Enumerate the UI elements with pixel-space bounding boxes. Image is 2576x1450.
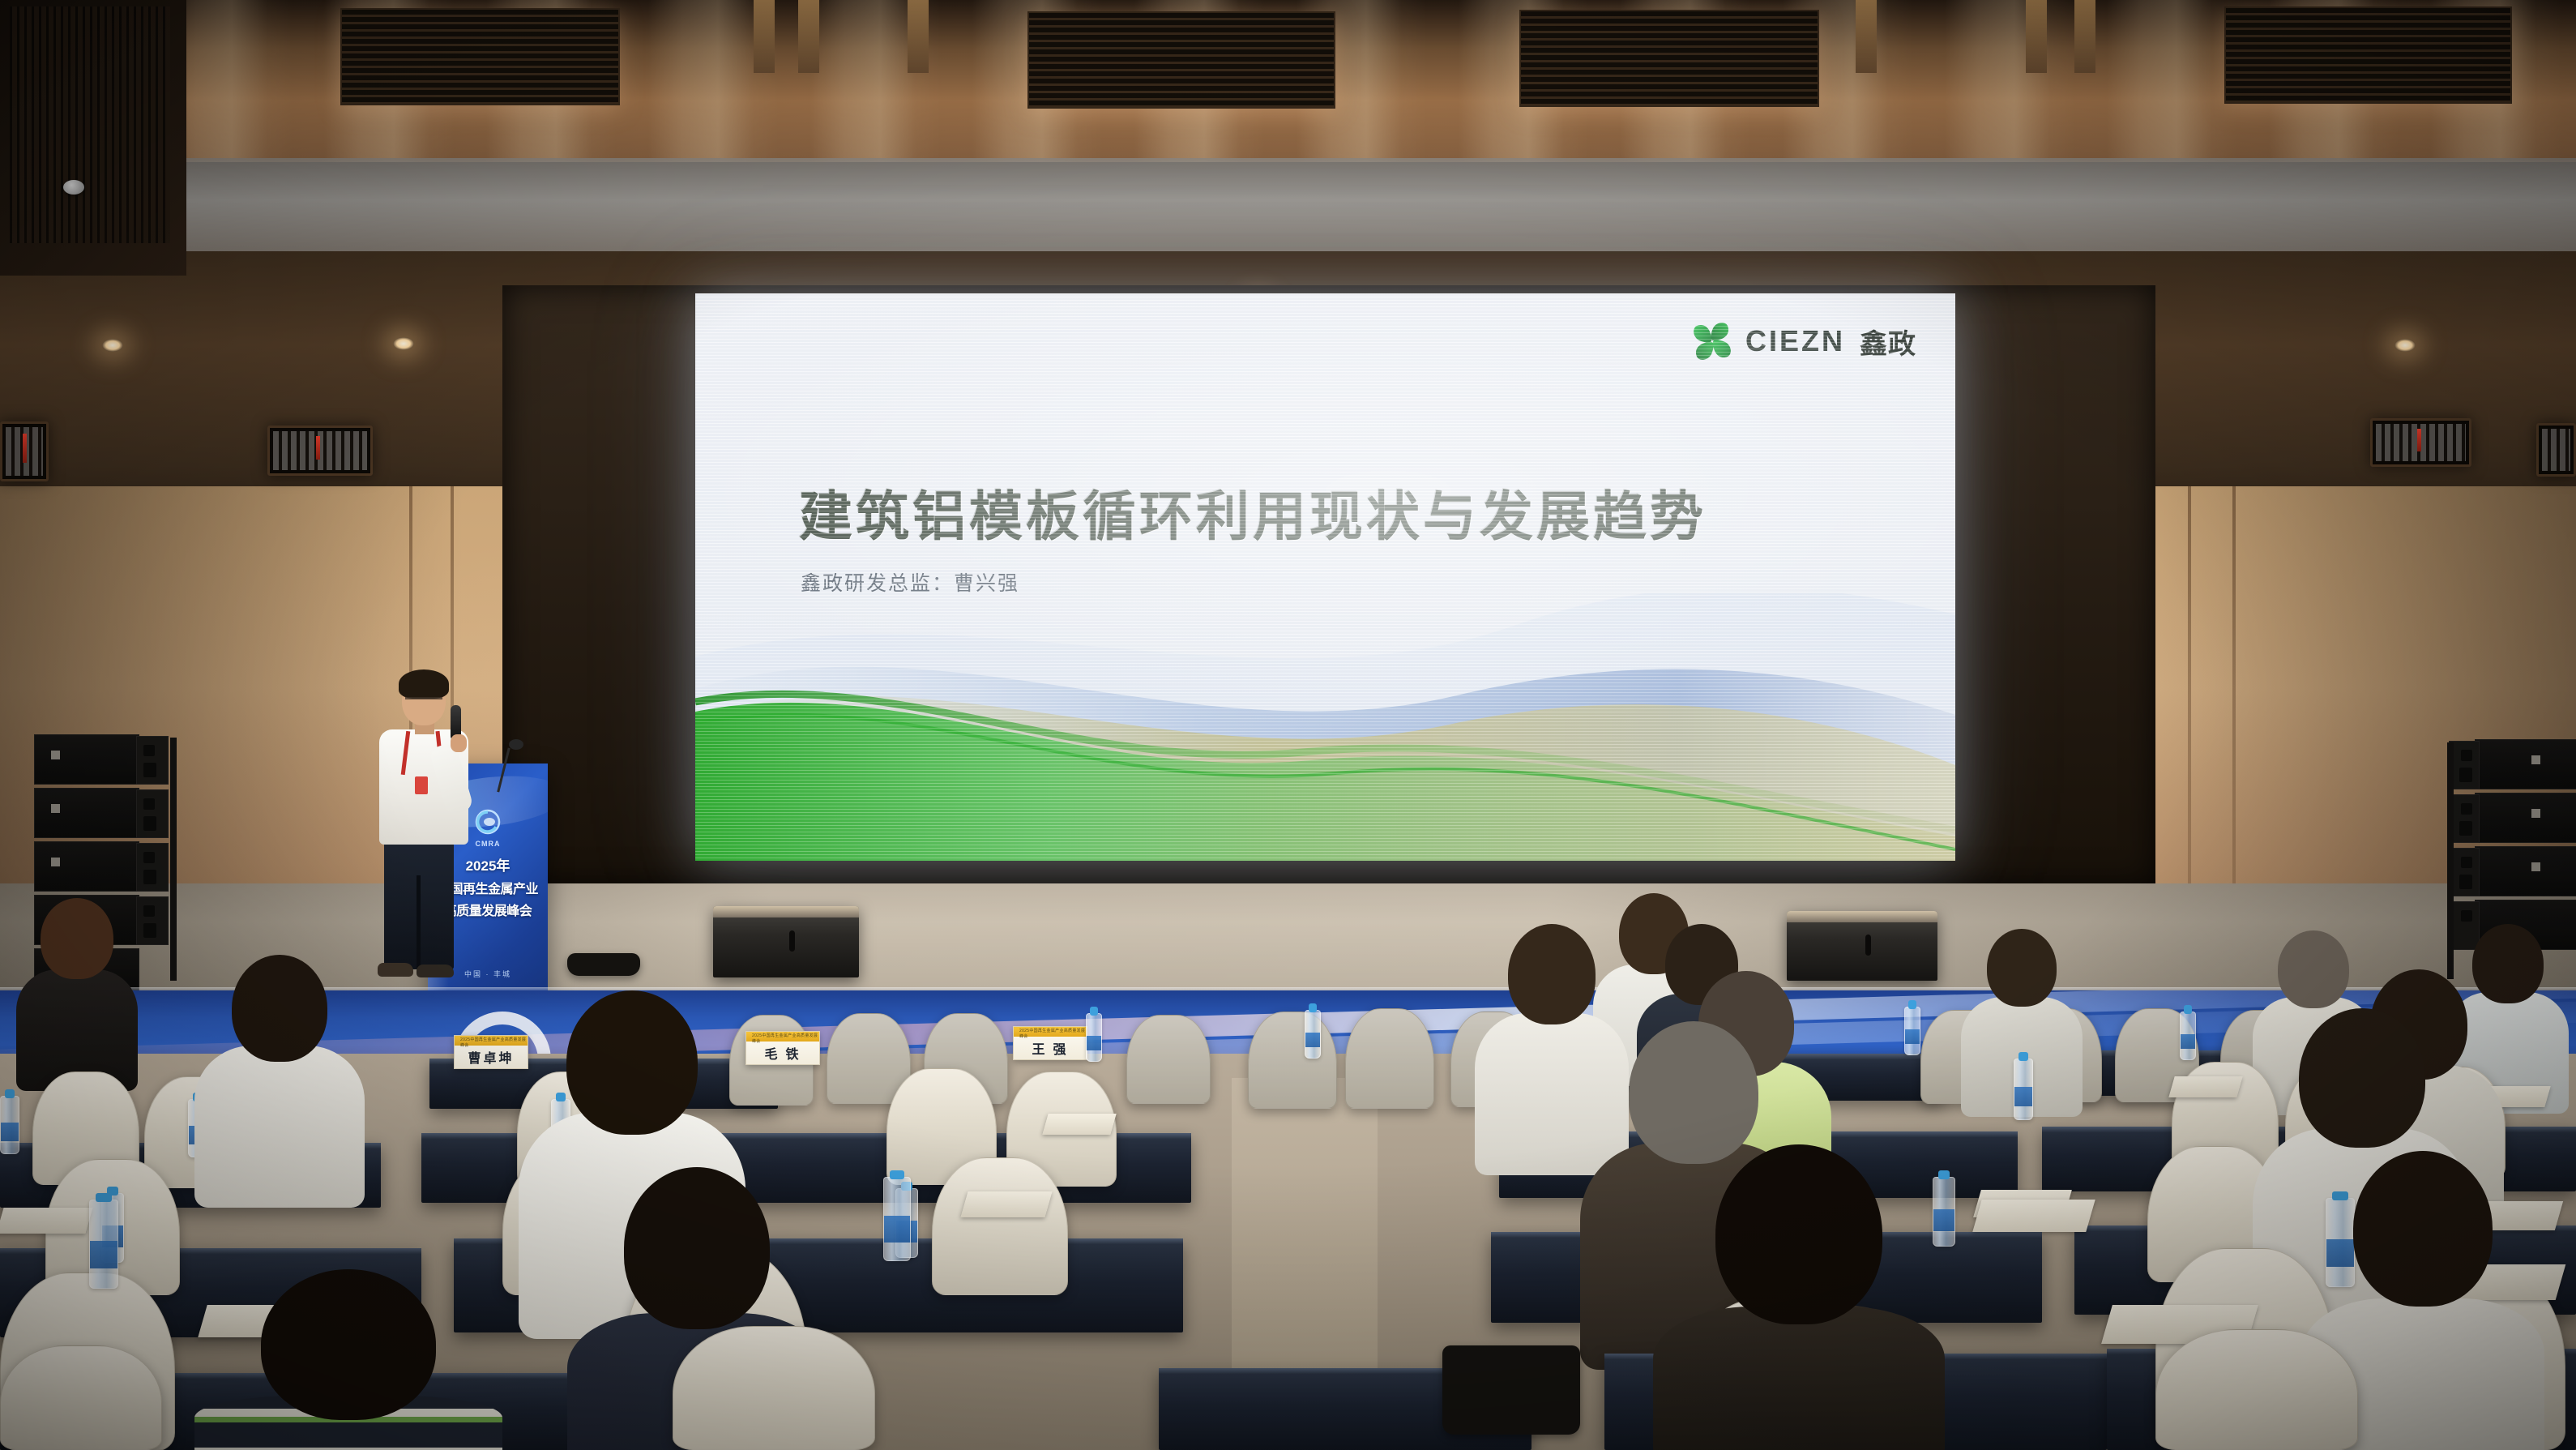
attendee-head xyxy=(1715,1144,1882,1324)
attendee-head xyxy=(2353,1151,2493,1307)
chair xyxy=(2155,1329,2358,1450)
placard-header-bar: 2025中国再生金属产业高质量发展峰会 xyxy=(455,1036,528,1046)
presenter-leg-gap xyxy=(417,875,421,969)
module-badge xyxy=(2531,862,2540,871)
module-badge xyxy=(2531,755,2540,764)
ceiling-wood-beam xyxy=(798,0,819,73)
sconce-red-accent xyxy=(316,436,320,460)
side-port xyxy=(143,923,156,938)
side-port xyxy=(143,816,156,831)
line-array-side-panel xyxy=(136,789,169,838)
line-array-module xyxy=(34,788,139,838)
ceiling-corner-grille xyxy=(10,6,170,243)
slide-title: 建筑铝模板循环利用现状与发展趋势 xyxy=(799,473,1707,551)
name-placard: 2025中国再生金属产业高质量发展峰会 王 强 xyxy=(1013,1026,1087,1060)
side-port xyxy=(2461,910,2472,922)
line-array-side-panel xyxy=(136,843,169,892)
presenter-glasses xyxy=(405,697,442,699)
conference-hall-scene: CIEZN 鑫政 建筑铝模板循环利用现状与发展趋势 鑫政研发总监：曹兴强 CMR… xyxy=(0,0,2576,1450)
water-bottle xyxy=(89,1200,118,1289)
bottle-label xyxy=(1,1123,19,1140)
ceiling-wood-beam xyxy=(908,0,929,73)
attendee-head xyxy=(1629,1021,1758,1164)
wall-sconce-panel xyxy=(2536,423,2576,477)
water-bottle xyxy=(1904,1007,1920,1055)
placard-org-text: 2025中国再生金属产业高质量发展峰会 xyxy=(1019,1028,1087,1039)
attendee-foreground xyxy=(194,1269,502,1450)
monitor-handle-slot xyxy=(789,930,795,952)
ceiling-downlight xyxy=(2394,339,2416,352)
notepad xyxy=(960,1191,1052,1217)
attendee-head xyxy=(2299,1008,2425,1148)
side-port xyxy=(143,798,155,810)
monitor-top-face xyxy=(713,906,859,917)
attendee-torso xyxy=(1653,1307,1945,1450)
sconce-slats xyxy=(2542,429,2570,471)
notepad xyxy=(1042,1114,1116,1135)
name-placard: 2025中国再生金属产业高质量发展峰会 曹卓坤 xyxy=(454,1035,528,1069)
ceiling-camera xyxy=(63,180,84,195)
sconce-red-accent xyxy=(2417,429,2421,451)
placard-org-text: 2025中国再生金属产业高质量发展峰会 xyxy=(752,1033,819,1044)
water-bottle xyxy=(1305,1010,1321,1059)
notepad xyxy=(0,1208,93,1234)
presenter-shoe xyxy=(378,963,413,977)
ceiling-wood-beam xyxy=(2026,0,2047,73)
bottle-cap xyxy=(1908,1000,1916,1009)
bottle-label xyxy=(2014,1087,2032,1106)
side-port xyxy=(2459,768,2472,782)
module-badge xyxy=(51,858,60,866)
placard-name: 毛 铁 xyxy=(746,1043,819,1063)
ceiling-dark-corner xyxy=(0,0,186,276)
attendee-bag xyxy=(1442,1345,1580,1435)
logo-chinese-name: 鑫政 xyxy=(1860,322,1916,361)
module-badge xyxy=(51,751,60,759)
logo-wordmark: CIEZN xyxy=(1745,324,1845,358)
line-array-module xyxy=(34,734,139,785)
line-array-rigging-pole xyxy=(170,738,177,981)
ceiling-air-grille xyxy=(2224,6,2512,104)
chair xyxy=(932,1157,1068,1295)
water-bottle xyxy=(883,1177,911,1261)
ciezn-pinwheel-icon xyxy=(1690,319,1734,363)
bottle-cap xyxy=(2019,1052,2028,1061)
water-bottle xyxy=(2014,1059,2033,1120)
bottle-cap xyxy=(2184,1005,2192,1014)
notepad xyxy=(1972,1200,2095,1232)
slide-wave-graphic xyxy=(695,593,1955,861)
side-port xyxy=(143,763,156,777)
ceiling-air-grille xyxy=(1027,11,1335,109)
wall-sconce-panel xyxy=(0,421,49,481)
water-bottle xyxy=(0,1096,19,1154)
side-port xyxy=(2459,875,2472,889)
bottle-label xyxy=(2181,1034,2195,1050)
line-array-side-panel xyxy=(136,736,169,785)
name-placard: 2025中国再生金属产业高质量发展峰会 毛 铁 xyxy=(745,1031,820,1065)
monitor-top-face xyxy=(1787,911,1937,922)
side-port xyxy=(2461,750,2472,761)
attendee-head xyxy=(1987,929,2057,1007)
chair xyxy=(1126,1015,1211,1104)
sconce-red-accent xyxy=(23,434,27,462)
slide-subtitle: 鑫政研发总监：曹兴强 xyxy=(801,567,1019,597)
placard-header-bar: 2025中国再生金属产业高质量发展峰会 xyxy=(1014,1027,1087,1037)
water-bottle xyxy=(1086,1013,1102,1062)
side-port xyxy=(143,905,155,917)
line-array-module xyxy=(2475,846,2576,896)
presenter-hair xyxy=(399,669,449,699)
cmra-logo-text: CMRA xyxy=(476,840,501,848)
side-port xyxy=(2461,857,2472,868)
module-badge xyxy=(51,804,60,813)
bottle-label xyxy=(1905,1029,1920,1045)
placard-name: 曹卓坤 xyxy=(455,1047,528,1067)
ceiling-cove-band xyxy=(0,158,2576,263)
chair xyxy=(0,1345,162,1450)
water-bottle xyxy=(2180,1012,2196,1060)
attendee-head xyxy=(261,1269,436,1420)
line-array-module xyxy=(2475,739,2576,789)
placard-name: 王 强 xyxy=(1014,1038,1087,1058)
presenter-hand xyxy=(451,734,467,752)
attendee xyxy=(16,898,138,1076)
line-array-side-panel xyxy=(136,896,169,945)
attendee-head xyxy=(232,955,327,1062)
wall-sconce-panel xyxy=(2370,418,2471,467)
side-port xyxy=(143,852,155,863)
stage-monitor-speaker xyxy=(713,906,859,977)
bottle-cap xyxy=(890,1170,904,1179)
stage-equipment-case xyxy=(567,953,640,976)
attendee-head xyxy=(41,898,113,979)
module-badge xyxy=(2531,809,2540,818)
attendee-head xyxy=(1508,924,1596,1024)
wall-sconce-panel xyxy=(267,426,373,476)
side-port xyxy=(2461,803,2472,815)
cmra-logo-icon xyxy=(472,807,504,840)
side-port xyxy=(2459,821,2472,836)
attendee-head xyxy=(566,990,698,1135)
presenter-badge xyxy=(415,776,428,794)
side-port xyxy=(143,745,155,756)
bottle-label xyxy=(884,1216,910,1243)
led-presentation-screen: CIEZN 鑫政 建筑铝模板循环利用现状与发展趋势 鑫政研发总监：曹兴强 xyxy=(695,293,1955,861)
ceiling-air-grille xyxy=(1519,10,1819,107)
chair xyxy=(1248,1012,1337,1109)
line-array-module xyxy=(34,841,139,892)
slide-brand-logo: CIEZN 鑫政 xyxy=(1690,319,1916,363)
monitor-handle-slot xyxy=(1865,935,1871,956)
ceiling-wood-beam xyxy=(1856,0,1877,73)
presenter-shoe xyxy=(417,965,454,977)
attendee-torso xyxy=(194,1046,365,1208)
attendee-head xyxy=(624,1167,770,1329)
ceiling-downlight xyxy=(393,337,414,350)
notepad xyxy=(2168,1076,2242,1097)
ceiling-downlight xyxy=(102,339,123,352)
ceiling-wood-beam xyxy=(754,0,775,73)
bottle-cap xyxy=(1090,1007,1098,1016)
bottle-cap xyxy=(96,1193,111,1202)
bottle-label xyxy=(1087,1036,1101,1051)
podium-microphone-head xyxy=(509,739,523,750)
placard-header-bar: 2025中国再生金属产业高质量发展峰会 xyxy=(746,1032,819,1042)
bottle-label xyxy=(1305,1033,1320,1048)
ceiling-wood-beam xyxy=(2074,0,2095,73)
bottle-cap xyxy=(1309,1003,1317,1012)
attendee-foreground xyxy=(1653,1144,1945,1450)
chair xyxy=(1345,1008,1434,1109)
line-array-module xyxy=(2475,793,2576,843)
attendee xyxy=(194,955,365,1190)
placard-org-text: 2025中国再生金属产业高质量发展峰会 xyxy=(460,1037,528,1048)
bottle-cap xyxy=(5,1089,15,1098)
chair xyxy=(673,1326,875,1450)
side-port xyxy=(143,870,156,884)
bottle-label xyxy=(90,1241,117,1269)
ceiling-air-grille xyxy=(340,8,620,105)
